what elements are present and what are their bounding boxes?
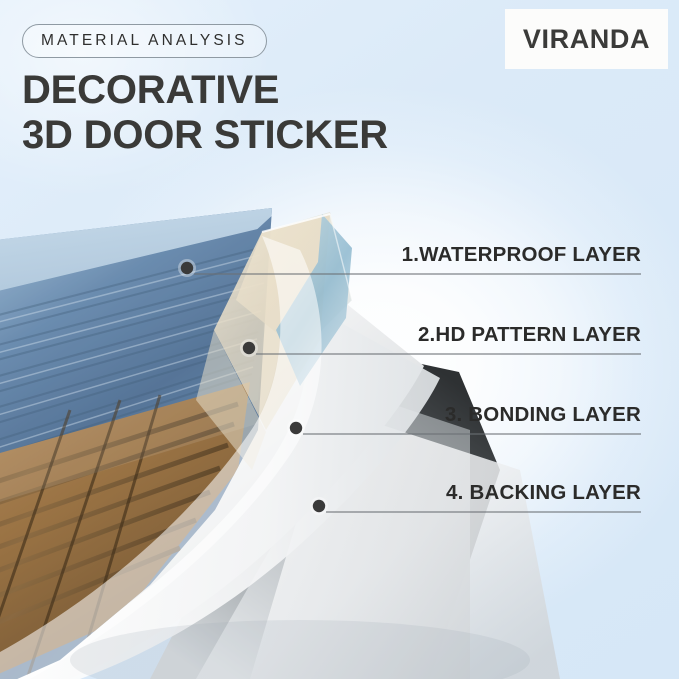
page-title: DECORATIVE 3D DOOR STICKER <box>22 68 388 158</box>
callout-label-3: 3. BONDING LAYER <box>445 403 641 427</box>
callout-dot-4[interactable] <box>313 500 325 512</box>
callout-label-4: 4. BACKING LAYER <box>446 481 641 505</box>
callout-label-2: 2.HD PATTERN LAYER <box>418 323 641 347</box>
title-line-1: DECORATIVE <box>22 68 279 112</box>
brand-name: VIRANDA <box>523 24 650 55</box>
callout-dot-1[interactable] <box>181 262 193 274</box>
poster-canvas: MATERIAL ANALYSIS DECORATIVE 3D DOOR STI… <box>0 0 679 679</box>
badge-material-analysis: MATERIAL ANALYSIS <box>22 24 267 58</box>
callout-dot-2[interactable] <box>243 342 255 354</box>
callout-dot-3[interactable] <box>290 422 302 434</box>
badge-label: MATERIAL ANALYSIS <box>41 32 248 50</box>
title-line-2: 3D DOOR STICKER <box>22 113 388 158</box>
callout-label-1: 1.WATERPROOF LAYER <box>402 243 641 267</box>
brand-logo: VIRANDA <box>505 9 668 69</box>
